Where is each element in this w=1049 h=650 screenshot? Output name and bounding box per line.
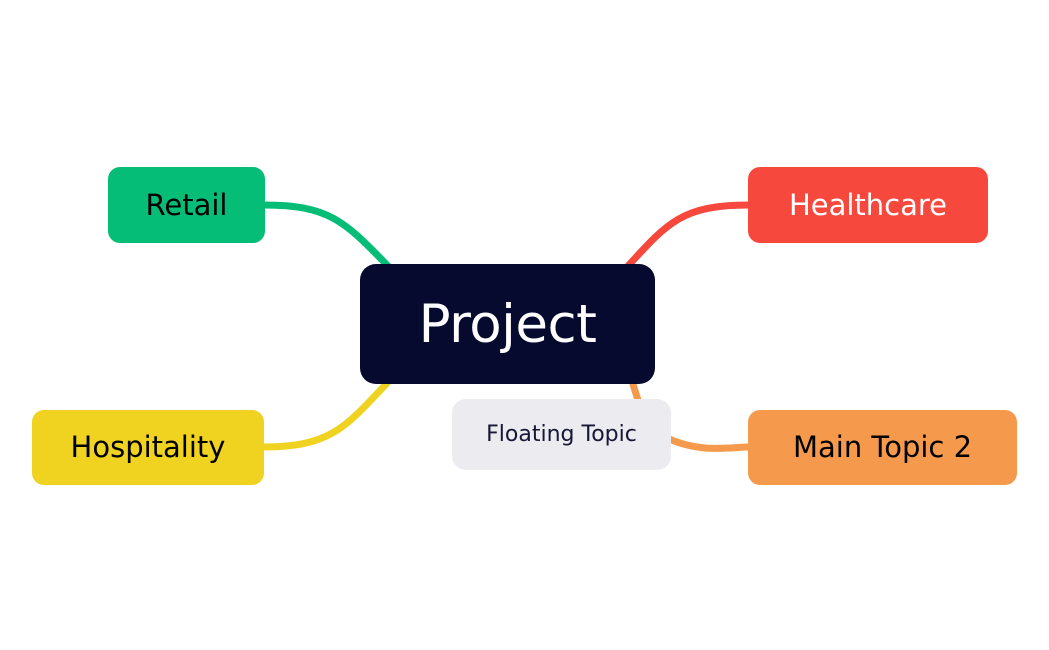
branch-node-hospitality-label: Hospitality [71, 433, 226, 462]
branch-node-retail-label: Retail [146, 191, 228, 220]
branch-node-healthcare[interactable]: Healthcare [748, 167, 988, 243]
branch-node-retail[interactable]: Retail [108, 167, 265, 243]
branch-node-main-topic-2-label: Main Topic 2 [793, 433, 972, 462]
floating-node-floating-topic[interactable]: Floating Topic [452, 399, 671, 470]
floating-node-floating-topic-label: Floating Topic [486, 424, 637, 446]
central-node-project[interactable]: Project [360, 264, 655, 384]
branch-node-hospitality[interactable]: Hospitality [32, 410, 264, 485]
connector-healthcare [628, 205, 749, 266]
mindmap-canvas: Project Retail Healthcare Hospitality Ma… [0, 0, 1049, 650]
connector-retail [264, 205, 388, 266]
connector-hospitality [263, 382, 388, 447]
central-node-label: Project [419, 298, 597, 351]
branch-node-main-topic-2[interactable]: Main Topic 2 [748, 410, 1017, 485]
branch-node-healthcare-label: Healthcare [789, 191, 947, 220]
